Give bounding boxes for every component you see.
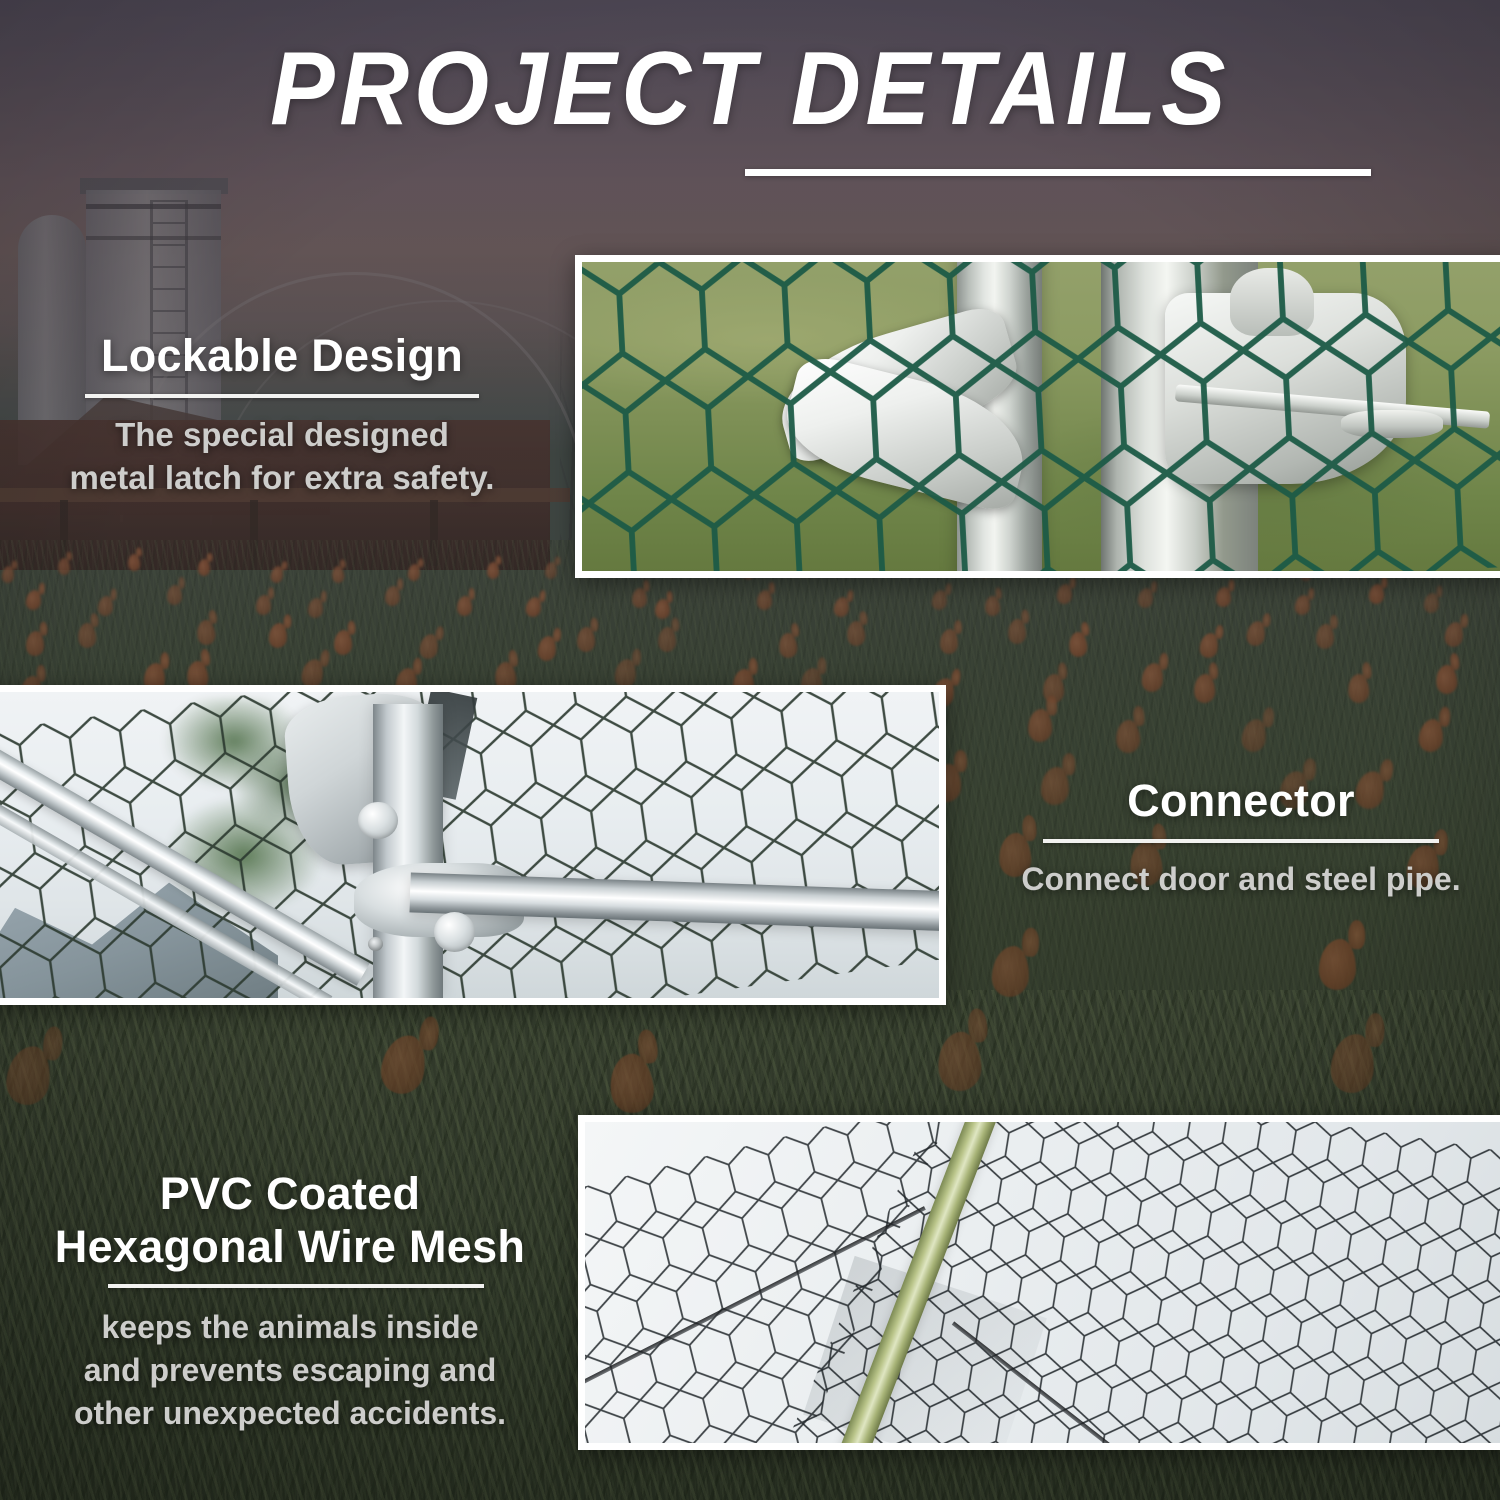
feature-connector: Connector Connect door and steel pipe. [1000, 775, 1482, 900]
feature-pvc-coated-mesh-body: keeps the animals inside and prevents es… [20, 1306, 560, 1435]
poster-title-container: PROJECT DETAILS [0, 34, 1500, 144]
feature-pvc-heading-line-1: PVC Coated [160, 1168, 421, 1219]
project-details-poster: PROJECT DETAILS [0, 0, 1500, 1500]
feature-lockable-design-body: The special designed metal latch for ext… [42, 414, 522, 500]
wire-mesh-roof-photo [578, 1115, 1500, 1450]
connector-screw [368, 937, 383, 951]
connector-closeup-photo [0, 685, 946, 1005]
latch-closeup-photo [575, 255, 1500, 578]
feature-pvc-coated-mesh: PVC CoatedHexagonal Wire Mesh keeps the … [20, 1168, 560, 1435]
feature-pvc-heading-line-2: Hexagonal Wire Mesh [55, 1221, 525, 1272]
steel-pipe-vertical [373, 704, 444, 998]
page-title: PROJECT DETAILS [270, 34, 1230, 144]
feature-pvc-coated-mesh-heading: PVC CoatedHexagonal Wire Mesh [20, 1168, 560, 1273]
feature-lockable-design-heading: Lockable Design [42, 330, 522, 383]
feature-connector-heading: Connector [1000, 775, 1482, 828]
green-hexagonal-wire-mesh [582, 262, 1500, 571]
feature-pvc-coated-mesh-rule [108, 1284, 484, 1288]
feature-lockable-design: Lockable Design The special designed met… [42, 330, 522, 499]
connector-bolt-upper [358, 802, 398, 839]
feature-connector-rule [1043, 839, 1439, 843]
feature-connector-body: Connect door and steel pipe. [1000, 859, 1482, 901]
title-underline-rule [745, 169, 1371, 176]
feature-lockable-design-rule [85, 394, 479, 398]
